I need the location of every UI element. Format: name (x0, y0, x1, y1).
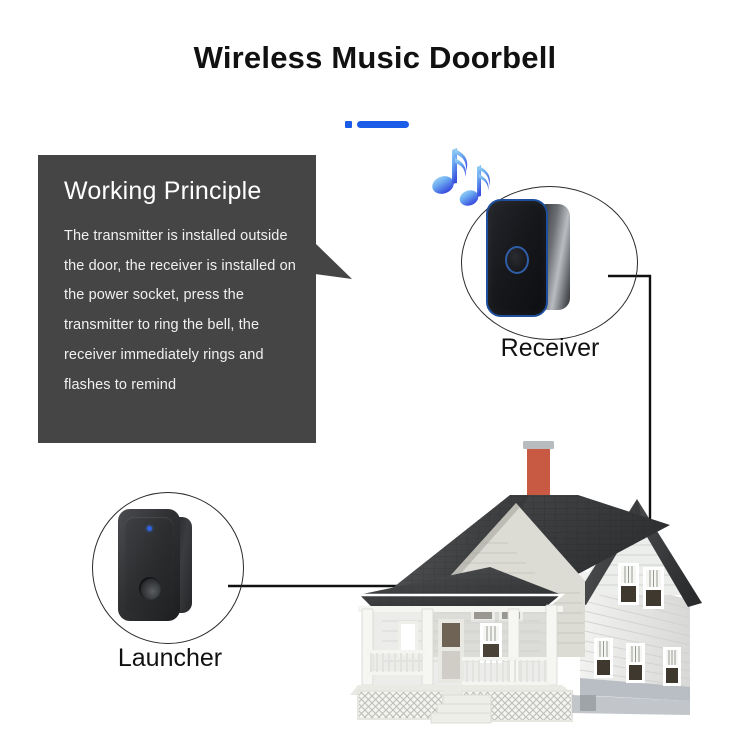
callout-heading: Working Principle (64, 177, 261, 206)
page-title: Wireless Music Doorbell (0, 40, 750, 76)
callout-tail (315, 243, 353, 288)
receiver-device-icon (486, 199, 572, 317)
model-house-image (330, 395, 730, 735)
signal-dot-segment (345, 121, 352, 128)
launcher-label: Launcher (60, 644, 280, 673)
receiver-front-face (486, 199, 548, 317)
launcher-device-icon (118, 509, 206, 621)
launcher-press-button (139, 577, 161, 600)
receiver-button (505, 246, 529, 274)
signal-bar-segment (357, 121, 409, 128)
working-principle-callout: Working Principle The transmitter is ins… (38, 155, 316, 443)
poster-canvas: Wireless Music Doorbell (0, 0, 750, 750)
receiver-label: Receiver (440, 334, 660, 363)
launcher-body (118, 509, 180, 621)
callout-body-text: The transmitter is installed outside the… (64, 222, 304, 400)
launcher-led-indicator (147, 526, 152, 531)
